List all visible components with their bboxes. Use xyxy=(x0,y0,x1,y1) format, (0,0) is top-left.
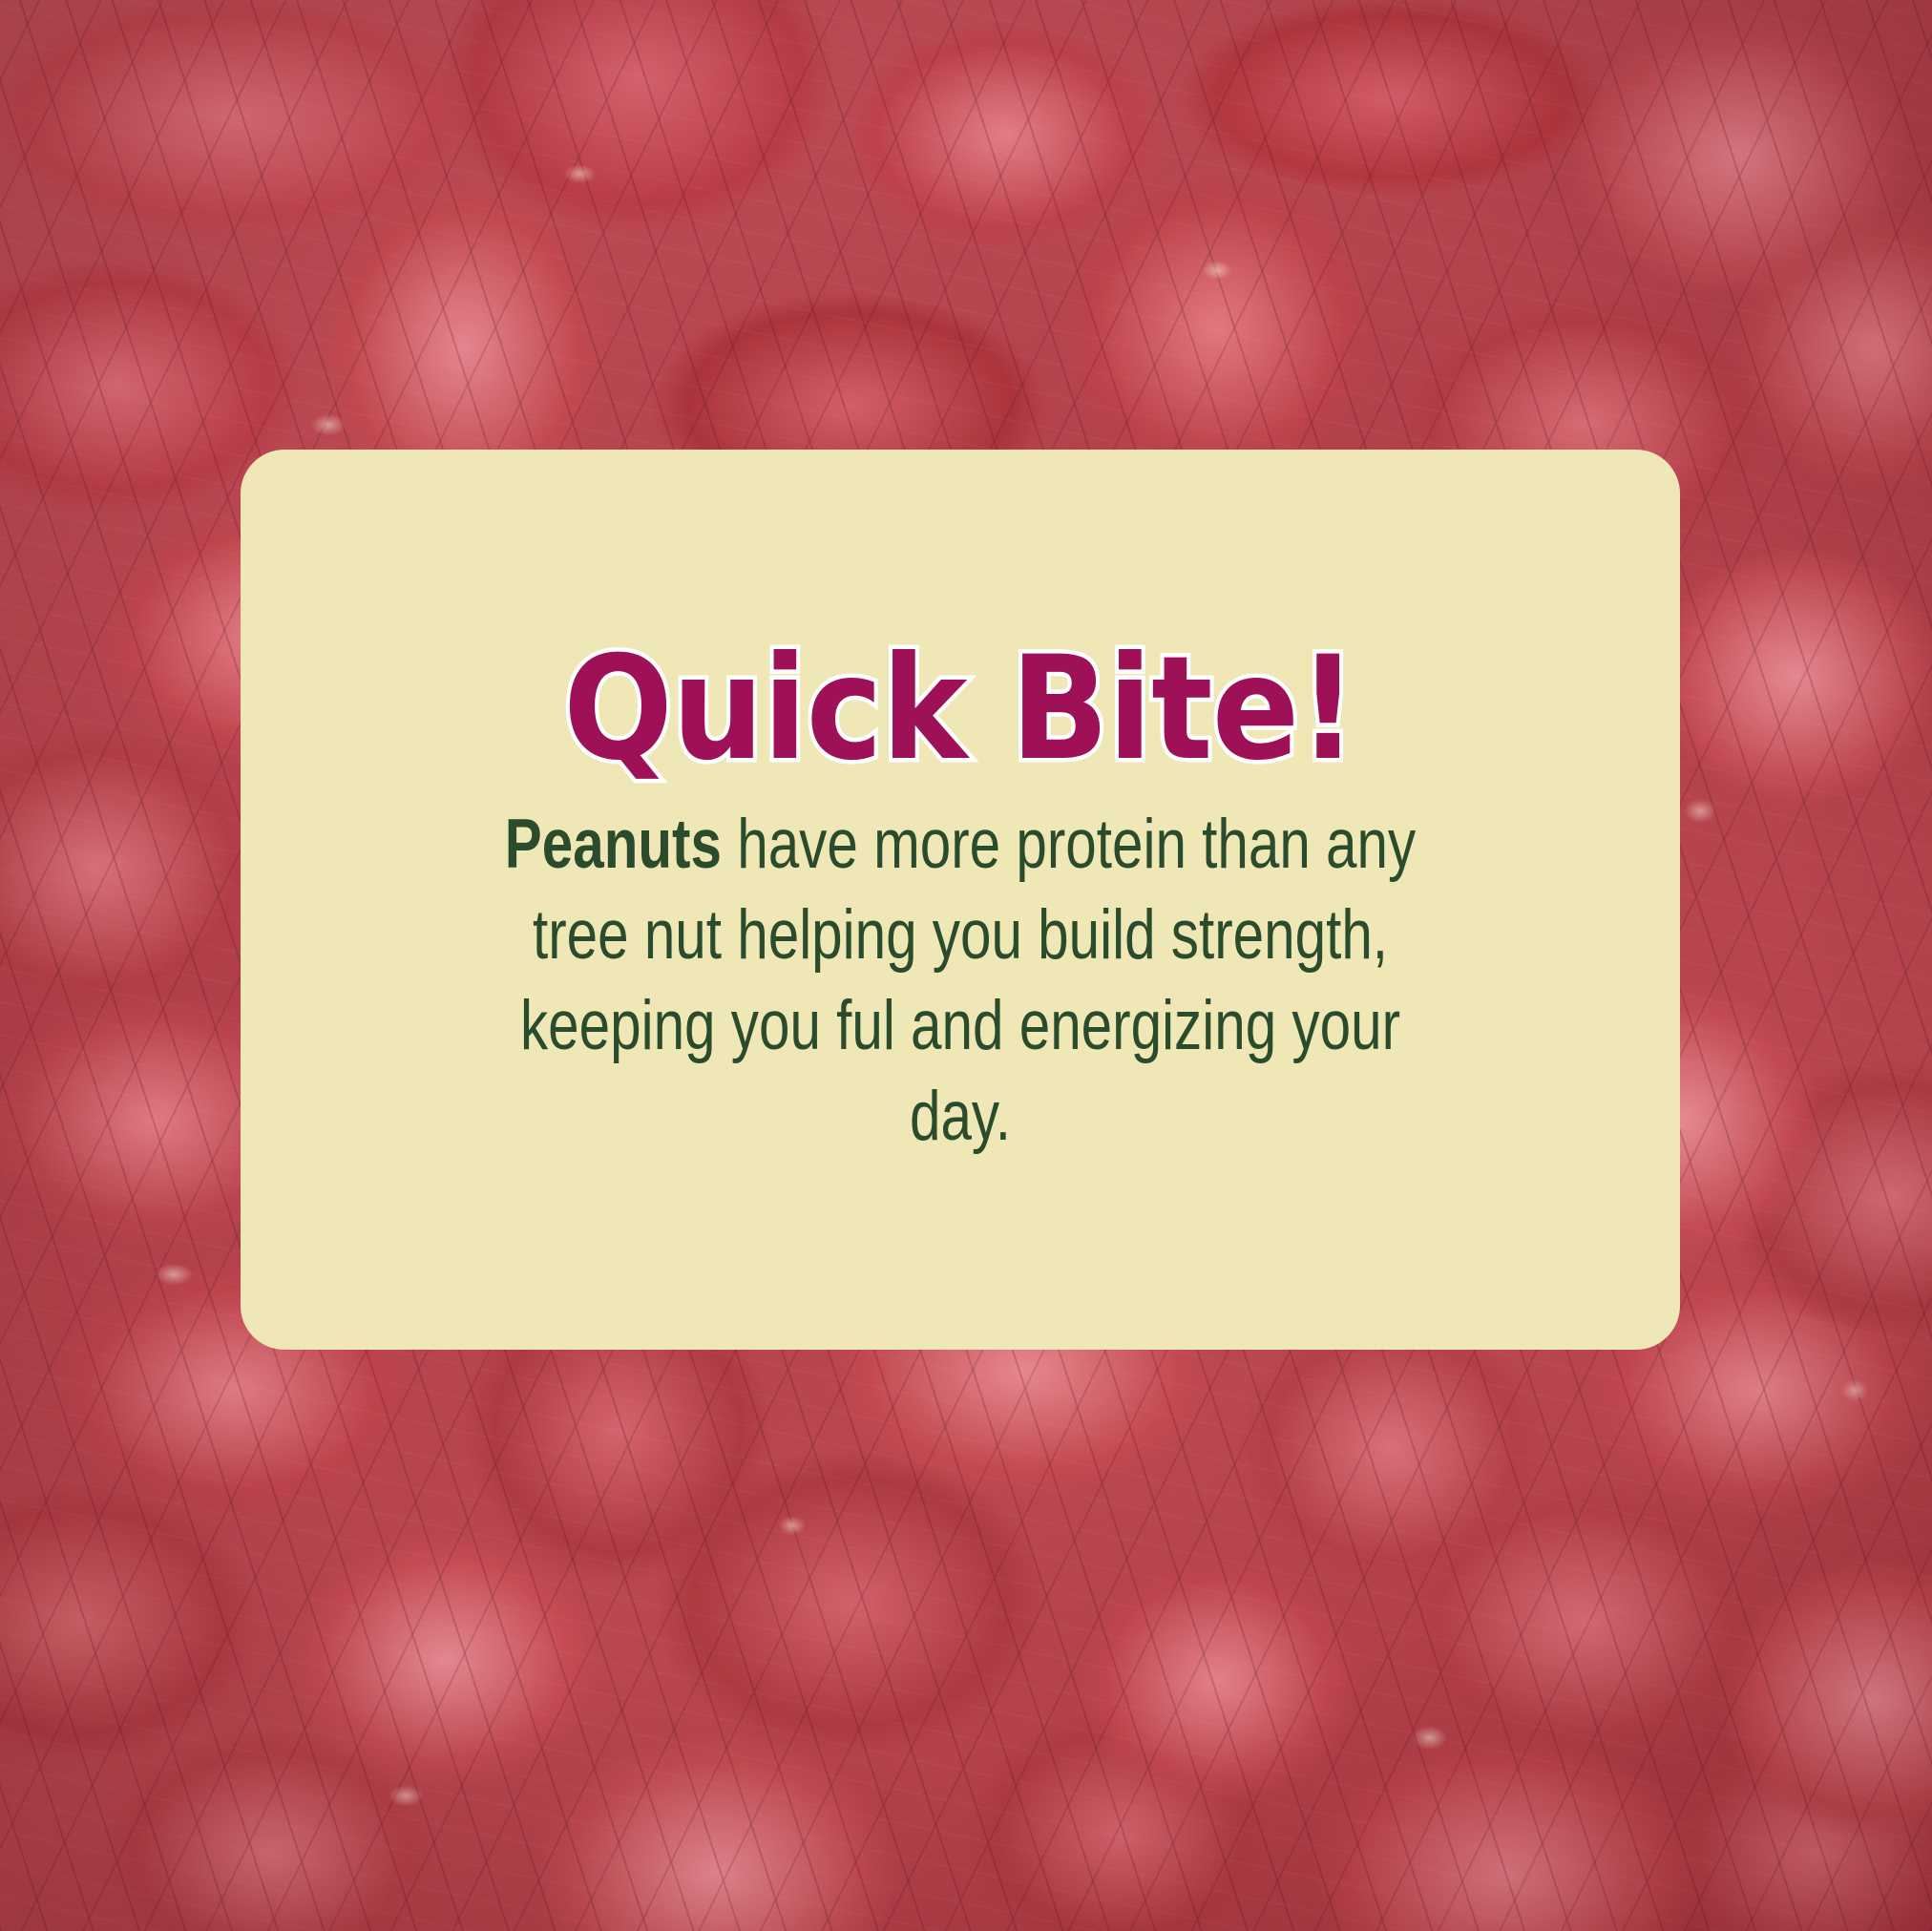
quick-bite-card: Quick Bite! Peanuts have more protein th… xyxy=(241,450,1680,1350)
card-body-lead-word: Peanuts xyxy=(505,806,722,883)
graphic-canvas: Quick Bite! Peanuts have more protein th… xyxy=(0,0,1932,1931)
card-title: Quick Bite! xyxy=(563,638,1356,781)
card-body-text: Peanuts have more protein than any tree … xyxy=(483,800,1438,1163)
